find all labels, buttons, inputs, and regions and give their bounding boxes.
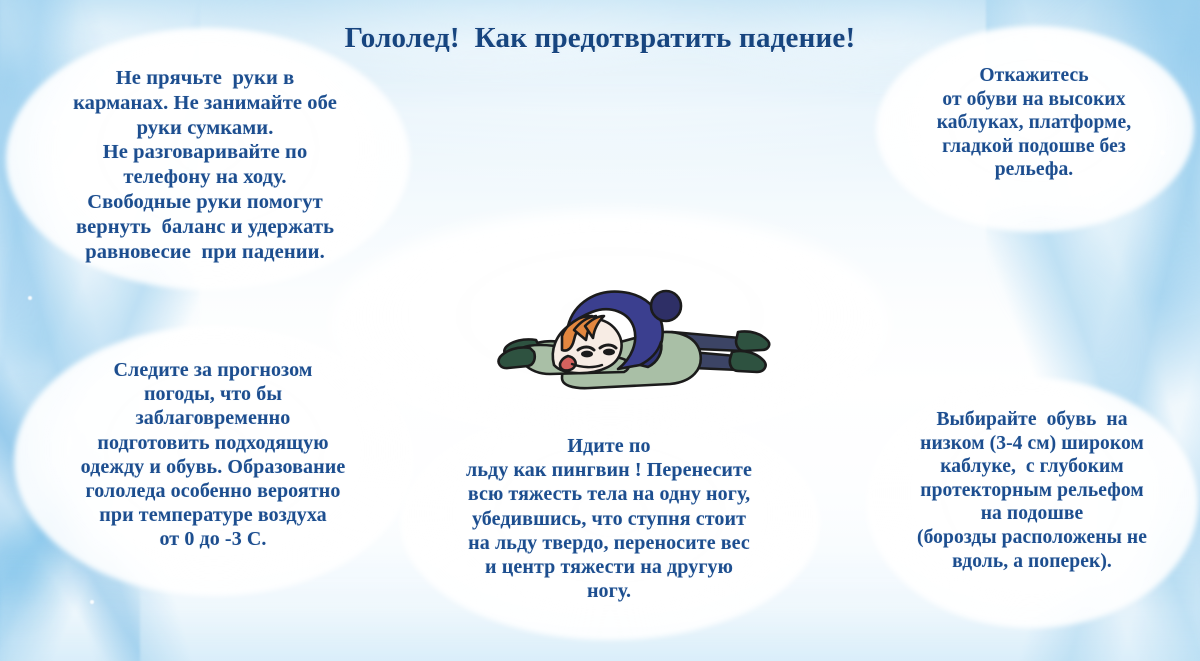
tip-line: подготовить подходящую: [30, 431, 396, 455]
tip-line: телефону на ходу.: [22, 165, 388, 190]
tip-line: заблаговременно: [30, 406, 396, 430]
tip-line: гладкой подошве без: [884, 135, 1184, 159]
tip-line: каблуках, платформе,: [884, 111, 1184, 135]
tip-line: Идите по: [414, 434, 804, 458]
tip-line: гололеда особенно вероятно: [30, 479, 396, 503]
tip-line: равновесие при падении.: [22, 240, 388, 265]
tip-line: руки сумками.: [22, 116, 388, 141]
tip-line: всю тяжесть тела на одну ногу,: [414, 482, 804, 506]
tip-line: Не прячьте руки в: [22, 66, 388, 91]
tip-line: убедившись, что ступня стоит: [414, 507, 804, 531]
tip-line: вернуть баланс и удержать: [22, 215, 388, 240]
tip-line: при температуре воздуха: [30, 503, 396, 527]
tip-line: Выбирайте обувь на: [876, 408, 1188, 432]
tip-line: протекторным рельефом: [876, 479, 1188, 503]
poster-canvas: Гололед! Как предотвратить падение! Не п…: [0, 0, 1200, 661]
tip-line: от обуви на высоких: [884, 88, 1184, 112]
tip-line: рельефа.: [884, 158, 1184, 182]
tip-text-hands-free: Не прячьте руки вкарманах. Не занимайте …: [22, 66, 388, 264]
tip-line: одежду и обувь. Образование: [30, 455, 396, 479]
page-title: Гололед! Как предотвратить падение!: [0, 22, 1200, 55]
tip-line: низком (3-4 см) широком: [876, 432, 1188, 456]
tip-line: каблуке, с глубоким: [876, 455, 1188, 479]
tip-line: (борозды расположены не: [876, 526, 1188, 550]
snow-sparkle-icon: [28, 296, 32, 300]
tip-line: карманах. Не занимайте обе: [22, 91, 388, 116]
tip-text-avoid-heels: Откажитесьот обуви на высокихкаблуках, п…: [884, 64, 1184, 182]
tip-line: Откажитесь: [884, 64, 1184, 88]
tip-line: льду как пингвин ! Перенесите: [414, 458, 804, 482]
tip-text-walk-like-penguin: Идите польду как пингвин ! Перенеситевсю…: [414, 434, 804, 603]
tip-line: на подошве: [876, 502, 1188, 526]
tip-line: ногу.: [414, 579, 804, 603]
tip-line: на льду твердо, переносите вес: [414, 531, 804, 555]
snow-sparkle-icon: [90, 600, 94, 604]
tip-line: погоды, что бы: [30, 382, 396, 406]
tip-text-watch-forecast: Следите за прогнозомпогоды, что бызаблаг…: [30, 358, 396, 552]
tip-line: и центр тяжести на другую: [414, 555, 804, 579]
tip-line: от 0 до -3 С.: [30, 527, 396, 551]
tip-line: Не разговаривайте по: [22, 140, 388, 165]
tip-line: Свободные руки помогут: [22, 190, 388, 215]
person-fallen-on-ice-icon: [444, 272, 794, 404]
tip-text-choose-footwear: Выбирайте обувь нанизком (3-4 см) широко…: [876, 408, 1188, 573]
tip-line: Следите за прогнозом: [30, 358, 396, 382]
tip-line: вдоль, а поперек).: [876, 550, 1188, 574]
